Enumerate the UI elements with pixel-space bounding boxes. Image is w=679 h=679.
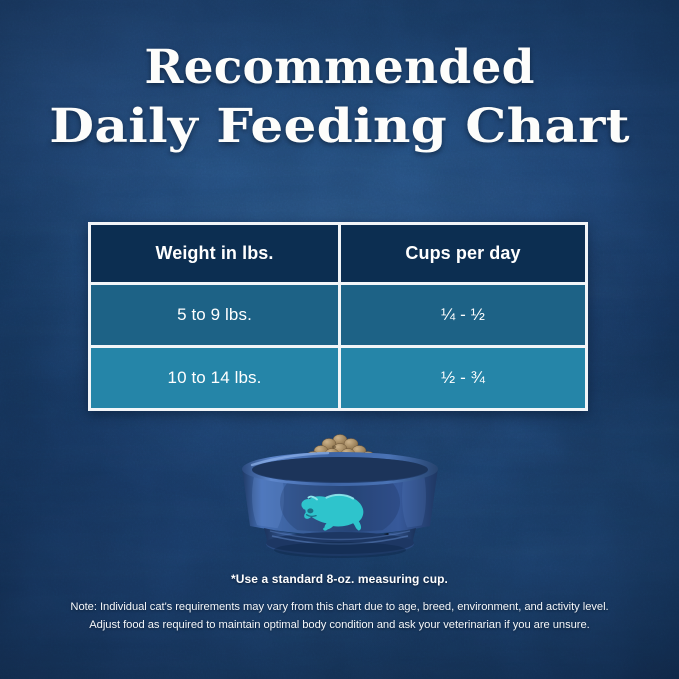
table-cell-weight: 5 to 9 lbs. <box>91 285 338 345</box>
table-row: 10 to 14 lbs. ½ - ¾ <box>91 345 585 408</box>
page-title: Recommended Daily Feeding Chart <box>0 44 679 150</box>
disclaimer-line-2: Adjust food as required to maintain opti… <box>0 617 679 635</box>
table-cell-cups: ½ - ¾ <box>338 348 585 408</box>
page-title-line2: Daily Feeding Chart <box>0 103 679 150</box>
disclaimer-note: Note: Individual cat's requirements may … <box>0 599 679 634</box>
table-header-weight: Weight in lbs. <box>91 225 338 282</box>
table-cell-cups: ¼ - ½ <box>338 285 585 345</box>
feeding-chart-table: Weight in lbs. Cups per day 5 to 9 lbs. … <box>88 222 588 411</box>
page-title-line1: Recommended <box>0 44 679 91</box>
bowl-graphic <box>228 432 452 568</box>
table-header-row: Weight in lbs. Cups per day <box>91 225 585 282</box>
dog-food-bowl-illustration <box>228 432 452 568</box>
table-header-cups: Cups per day <box>338 225 585 282</box>
table-row: 5 to 9 lbs. ¼ - ½ <box>91 282 585 345</box>
bowl-body <box>242 452 438 558</box>
table-cell-weight: 10 to 14 lbs. <box>91 348 338 408</box>
measuring-cup-note: *Use a standard 8-oz. measuring cup. <box>0 572 679 586</box>
disclaimer-line-1: Note: Individual cat's requirements may … <box>0 599 679 617</box>
